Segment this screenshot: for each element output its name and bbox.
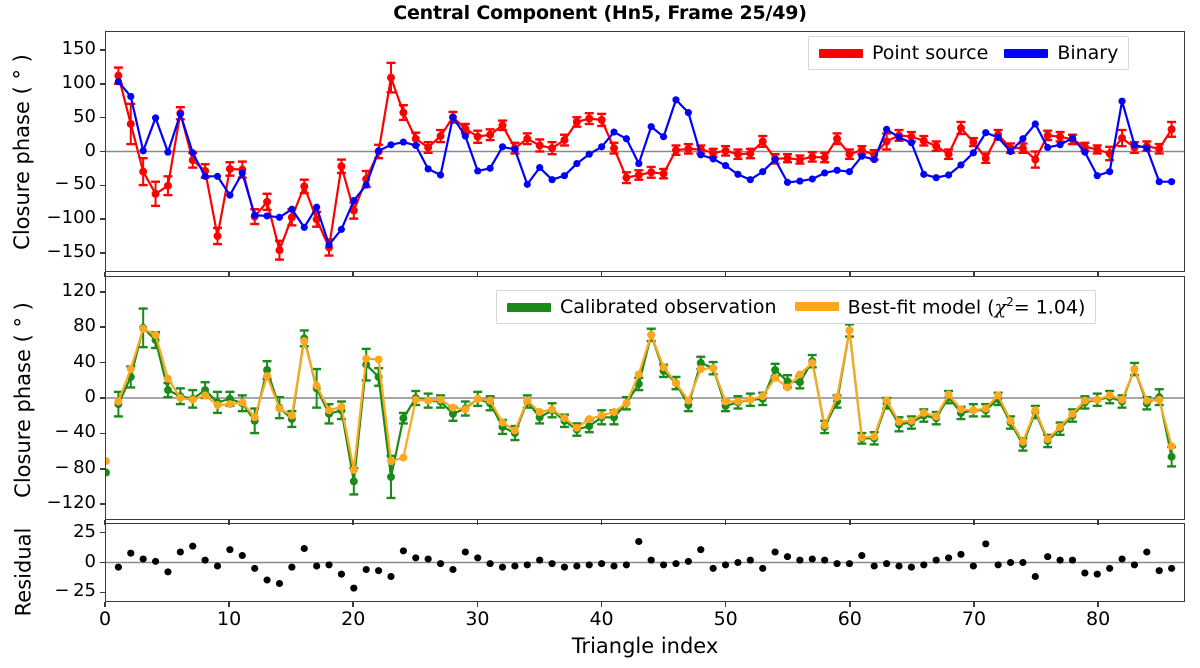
legend-item-calibrated-observation: Calibrated observation bbox=[507, 296, 777, 318]
y-tick-label: 0 bbox=[85, 551, 96, 572]
y-tick-label: 0 bbox=[85, 140, 96, 161]
x-tick-mark bbox=[104, 520, 106, 525]
x-tick-mark bbox=[228, 602, 230, 607]
x-tick-mark bbox=[477, 602, 479, 607]
panel3-plot-area bbox=[106, 524, 1184, 601]
x-tick-mark bbox=[104, 602, 106, 607]
y-tick-mark bbox=[100, 151, 105, 153]
y-tick-label: 150 bbox=[62, 38, 96, 59]
y-tick-mark bbox=[100, 592, 105, 594]
y-tick-mark bbox=[100, 397, 105, 399]
y-tick-mark bbox=[100, 83, 105, 85]
y-tick-label: 80 bbox=[73, 315, 96, 336]
x-tick-mark bbox=[352, 602, 354, 607]
legend-item-best-fit-model: Best-fit model (χ2= 1.04) bbox=[795, 295, 1086, 318]
x-tick-mark bbox=[228, 272, 230, 277]
x-tick-mark bbox=[973, 602, 975, 607]
y-tick-label: −150 bbox=[47, 241, 96, 262]
y-tick-mark bbox=[100, 49, 105, 51]
x-tick-label: 50 bbox=[706, 608, 746, 630]
x-tick-mark bbox=[601, 272, 603, 277]
x-axis-label: Triangle index bbox=[105, 634, 1185, 658]
x-tick-mark bbox=[352, 520, 354, 525]
y-tick-label: − 50 bbox=[54, 173, 96, 194]
y-tick-label: − 25 bbox=[54, 580, 96, 601]
panel2-y-axis-label: Closure phase ( ° ) bbox=[11, 285, 35, 515]
y-tick-mark bbox=[100, 326, 105, 328]
legend-label-binary: Binary bbox=[1057, 42, 1118, 64]
x-tick-mark bbox=[1097, 520, 1099, 525]
legend-swatch-best-fit-model bbox=[795, 302, 839, 311]
legend-label-best-fit-model: Best-fit model (χ2= 1.04) bbox=[848, 295, 1086, 318]
y-tick-label: 0 bbox=[85, 386, 96, 407]
panel1-y-axis-label: Closure phase ( ° ) bbox=[10, 42, 34, 262]
panel3-y-axis-label: Residual bbox=[12, 515, 36, 630]
legend-top: Point source Binary bbox=[808, 36, 1129, 70]
y-tick-mark bbox=[100, 532, 105, 534]
y-tick-label: 25 bbox=[73, 521, 96, 542]
legend-label-calibrated-observation: Calibrated observation bbox=[560, 296, 777, 318]
y-tick-label: 120 bbox=[62, 280, 96, 301]
x-tick-label: 0 bbox=[85, 608, 125, 630]
legend-swatch-binary bbox=[1004, 49, 1048, 58]
legend-swatch-point-source bbox=[819, 49, 863, 58]
y-tick-mark bbox=[100, 117, 105, 119]
figure-title: Central Component (Hn5, Frame 25/49) bbox=[0, 2, 1200, 24]
legend-item-binary: Binary bbox=[1004, 42, 1118, 64]
y-tick-label: 40 bbox=[73, 351, 96, 372]
x-tick-mark bbox=[849, 272, 851, 277]
y-tick-label: − 40 bbox=[54, 421, 96, 442]
y-tick-label: − 80 bbox=[54, 457, 96, 478]
x-tick-mark bbox=[973, 272, 975, 277]
panel-residual bbox=[105, 523, 1185, 602]
y-tick-mark bbox=[100, 468, 105, 470]
legend-swatch-calibrated-observation bbox=[507, 303, 551, 312]
x-tick-label: 80 bbox=[1078, 608, 1118, 630]
x-tick-label: 60 bbox=[830, 608, 870, 630]
x-tick-mark bbox=[601, 520, 603, 525]
x-tick-mark bbox=[725, 520, 727, 525]
y-tick-label: −100 bbox=[47, 207, 96, 228]
x-tick-mark bbox=[352, 272, 354, 277]
x-tick-mark bbox=[725, 272, 727, 277]
x-tick-label: 20 bbox=[333, 608, 373, 630]
x-tick-mark bbox=[725, 602, 727, 607]
x-tick-label: 40 bbox=[582, 608, 622, 630]
x-tick-mark bbox=[1097, 272, 1099, 277]
x-tick-mark bbox=[973, 520, 975, 525]
y-tick-mark bbox=[100, 503, 105, 505]
x-tick-mark bbox=[228, 520, 230, 525]
y-tick-mark bbox=[100, 252, 105, 254]
x-tick-label: 70 bbox=[954, 608, 994, 630]
y-tick-mark bbox=[100, 362, 105, 364]
x-tick-label: 30 bbox=[457, 608, 497, 630]
legend-item-point-source: Point source bbox=[819, 42, 988, 64]
y-tick-label: 50 bbox=[73, 106, 96, 127]
y-tick-mark bbox=[100, 433, 105, 435]
y-tick-mark bbox=[100, 218, 105, 220]
x-tick-mark bbox=[1097, 602, 1099, 607]
x-tick-label: 10 bbox=[209, 608, 249, 630]
x-tick-mark bbox=[104, 272, 106, 277]
y-tick-label: 100 bbox=[62, 72, 96, 93]
y-tick-mark bbox=[100, 562, 105, 564]
legend-label-point-source: Point source bbox=[872, 42, 988, 64]
x-tick-mark bbox=[601, 602, 603, 607]
figure-root: Central Component (Hn5, Frame 25/49) Clo… bbox=[0, 0, 1200, 668]
y-tick-label: −120 bbox=[47, 492, 96, 513]
x-tick-mark bbox=[477, 520, 479, 525]
x-tick-mark bbox=[849, 602, 851, 607]
x-tick-mark bbox=[477, 272, 479, 277]
x-tick-mark bbox=[849, 520, 851, 525]
legend-middle: Calibrated observation Best-fit model (χ… bbox=[496, 290, 1096, 324]
y-tick-mark bbox=[100, 185, 105, 187]
y-tick-mark bbox=[100, 291, 105, 293]
